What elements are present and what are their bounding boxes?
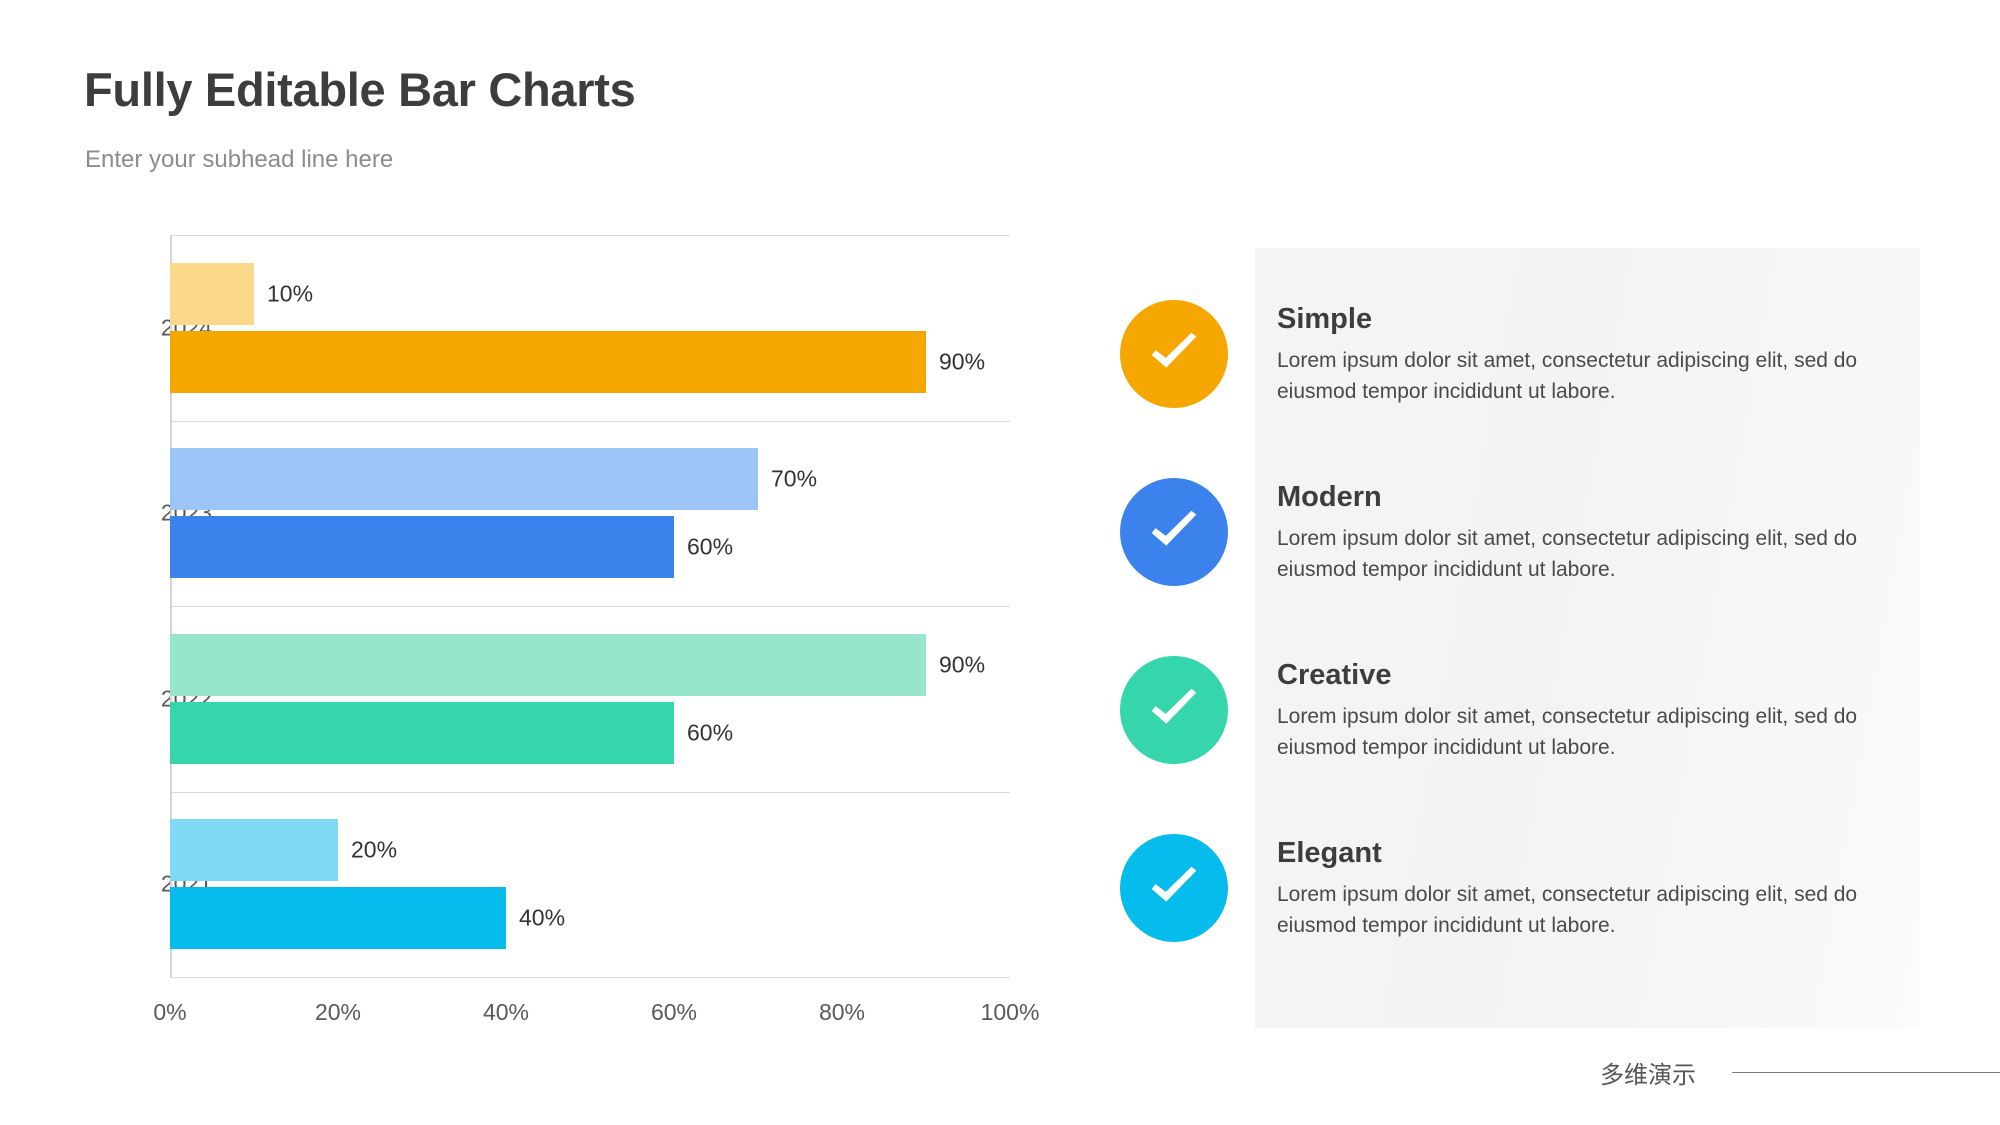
bar-row: 70% (170, 448, 1010, 510)
bar-row: 10% (170, 263, 1010, 325)
page-title: Fully Editable Bar Charts (84, 62, 635, 117)
feature-item[interactable]: CreativeLorem ipsum dolor sit amet, cons… (1120, 656, 1940, 834)
chart-gridline (170, 421, 1010, 422)
bar-chart: 2024202320222021 10%90%70%60%90%60%20%40… (150, 235, 1030, 1025)
feature-title: Creative (1277, 659, 1917, 692)
check-circle-icon (1120, 300, 1228, 408)
bar-value-label: 90% (926, 348, 985, 375)
plot-area: 10%90%70%60%90%60%20%40% (170, 235, 1010, 977)
slide-root: Fully Editable Bar Charts Enter your sub… (0, 0, 2000, 1125)
check-circle-icon (1120, 478, 1228, 586)
chart-bar[interactable] (170, 516, 674, 578)
footer-brand-text: 多维演示 (1600, 1055, 1696, 1090)
x-axis-tick-label: 0% (153, 999, 186, 1026)
chart-bar[interactable] (170, 819, 338, 881)
check-circle-icon (1120, 656, 1228, 764)
bar-value-label: 70% (758, 466, 817, 493)
bar-row: 40% (170, 887, 1010, 949)
bar-row: 20% (170, 819, 1010, 881)
bar-value-label: 60% (674, 719, 733, 746)
footer: 多维演示 (1600, 1055, 2000, 1090)
feature-body: CreativeLorem ipsum dolor sit amet, cons… (1277, 659, 1917, 763)
page-subtitle: Enter your subhead line here (85, 146, 393, 174)
footer-divider (1732, 1072, 2000, 1073)
feature-description: Lorem ipsum dolor sit amet, consectetur … (1277, 345, 1917, 407)
chart-gridline (170, 235, 1010, 236)
feature-item[interactable]: ModernLorem ipsum dolor sit amet, consec… (1120, 478, 1940, 656)
feature-description: Lorem ipsum dolor sit amet, consectetur … (1277, 879, 1917, 941)
chart-bar[interactable] (170, 634, 926, 696)
feature-list: SimpleLorem ipsum dolor sit amet, consec… (1120, 300, 1940, 1012)
chart-bar[interactable] (170, 263, 254, 325)
bar-row: 90% (170, 331, 1010, 393)
chart-gridline (170, 792, 1010, 793)
chart-bar[interactable] (170, 702, 674, 764)
chart-gridline (170, 977, 1010, 978)
x-axis-tick-label: 40% (483, 999, 529, 1026)
feature-title: Simple (1277, 303, 1917, 336)
feature-body: ElegantLorem ipsum dolor sit amet, conse… (1277, 837, 1917, 941)
x-axis-tick-label: 20% (315, 999, 361, 1026)
feature-title: Elegant (1277, 837, 1917, 870)
bar-value-label: 60% (674, 534, 733, 561)
bar-value-label: 40% (506, 905, 565, 932)
x-axis-tick-label: 80% (819, 999, 865, 1026)
bar-row: 60% (170, 516, 1010, 578)
bar-value-label: 20% (338, 837, 397, 864)
bar-row: 90% (170, 634, 1010, 696)
chart-gridline (170, 606, 1010, 607)
feature-description: Lorem ipsum dolor sit amet, consectetur … (1277, 701, 1917, 763)
bar-value-label: 90% (926, 651, 985, 678)
bar-row: 60% (170, 702, 1010, 764)
feature-title: Modern (1277, 481, 1917, 514)
bar-value-label: 10% (254, 280, 313, 307)
feature-item[interactable]: SimpleLorem ipsum dolor sit amet, consec… (1120, 300, 1940, 478)
feature-item[interactable]: ElegantLorem ipsum dolor sit amet, conse… (1120, 834, 1940, 1012)
x-axis-tick-label: 60% (651, 999, 697, 1026)
x-axis-tick-label: 100% (981, 999, 1040, 1026)
check-circle-icon (1120, 834, 1228, 942)
feature-body: ModernLorem ipsum dolor sit amet, consec… (1277, 481, 1917, 585)
chart-bar[interactable] (170, 331, 926, 393)
feature-body: SimpleLorem ipsum dolor sit amet, consec… (1277, 303, 1917, 407)
chart-bar[interactable] (170, 887, 506, 949)
feature-description: Lorem ipsum dolor sit amet, consectetur … (1277, 523, 1917, 585)
chart-bar[interactable] (170, 448, 758, 510)
